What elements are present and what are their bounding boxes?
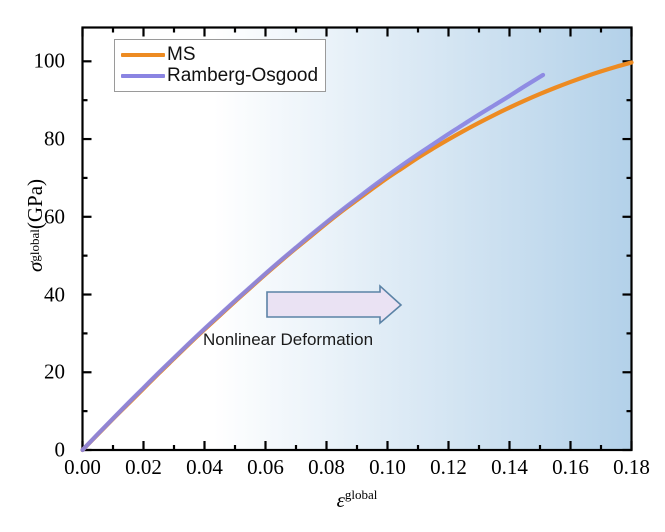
nonlinear-deformation-label: Nonlinear Deformation — [203, 330, 373, 350]
y-tick-label-text: 100 — [0, 49, 74, 74]
stress-strain-chart: σglobal (GPa) εglobal 020406080100 0.000… — [0, 0, 665, 532]
x-tick-label: 0.14 — [491, 455, 528, 480]
legend: MS Ramberg-Osgood — [114, 39, 326, 92]
x-tick-label: 0.04 — [186, 455, 223, 480]
y-tick-label-text: 60 — [0, 204, 74, 229]
x-tick-label: 0.08 — [308, 455, 345, 480]
x-axis-label: εglobal — [82, 487, 632, 513]
x-tick-label: 0.02 — [125, 455, 162, 480]
legend-label-ramberg-osgood: Ramberg-Osgood — [167, 66, 318, 85]
x-tick-label: 0.16 — [552, 455, 589, 480]
y-axis-label-symbol: σ — [23, 262, 48, 272]
legend-swatch-ms — [121, 53, 165, 57]
right-arrow-icon — [267, 286, 401, 323]
x-axis-label-symbol: ε — [337, 488, 345, 512]
x-tick-label: 0.10 — [369, 455, 406, 480]
y-tick-label-text: 40 — [0, 282, 74, 307]
legend-item-ms[interactable]: MS — [121, 44, 318, 65]
x-tick-label: 0.06 — [247, 455, 284, 480]
plot-canvas — [0, 0, 665, 532]
legend-label-ms: MS — [167, 45, 196, 64]
x-tick-label: 0.18 — [613, 455, 650, 480]
x-tick-label: 0.00 — [64, 455, 101, 480]
legend-item-ramberg-osgood[interactable]: Ramberg-Osgood — [121, 65, 318, 86]
legend-swatch-ramberg-osgood — [121, 74, 165, 78]
y-tick-label-text: 20 — [0, 360, 74, 385]
y-axis-label-superscript: global — [27, 229, 43, 262]
x-axis-label-superscript: global — [345, 487, 378, 502]
x-tick-label: 0.12 — [430, 455, 467, 480]
y-tick-label-text: 0 — [0, 438, 74, 463]
y-tick-label-text: 80 — [0, 127, 74, 152]
